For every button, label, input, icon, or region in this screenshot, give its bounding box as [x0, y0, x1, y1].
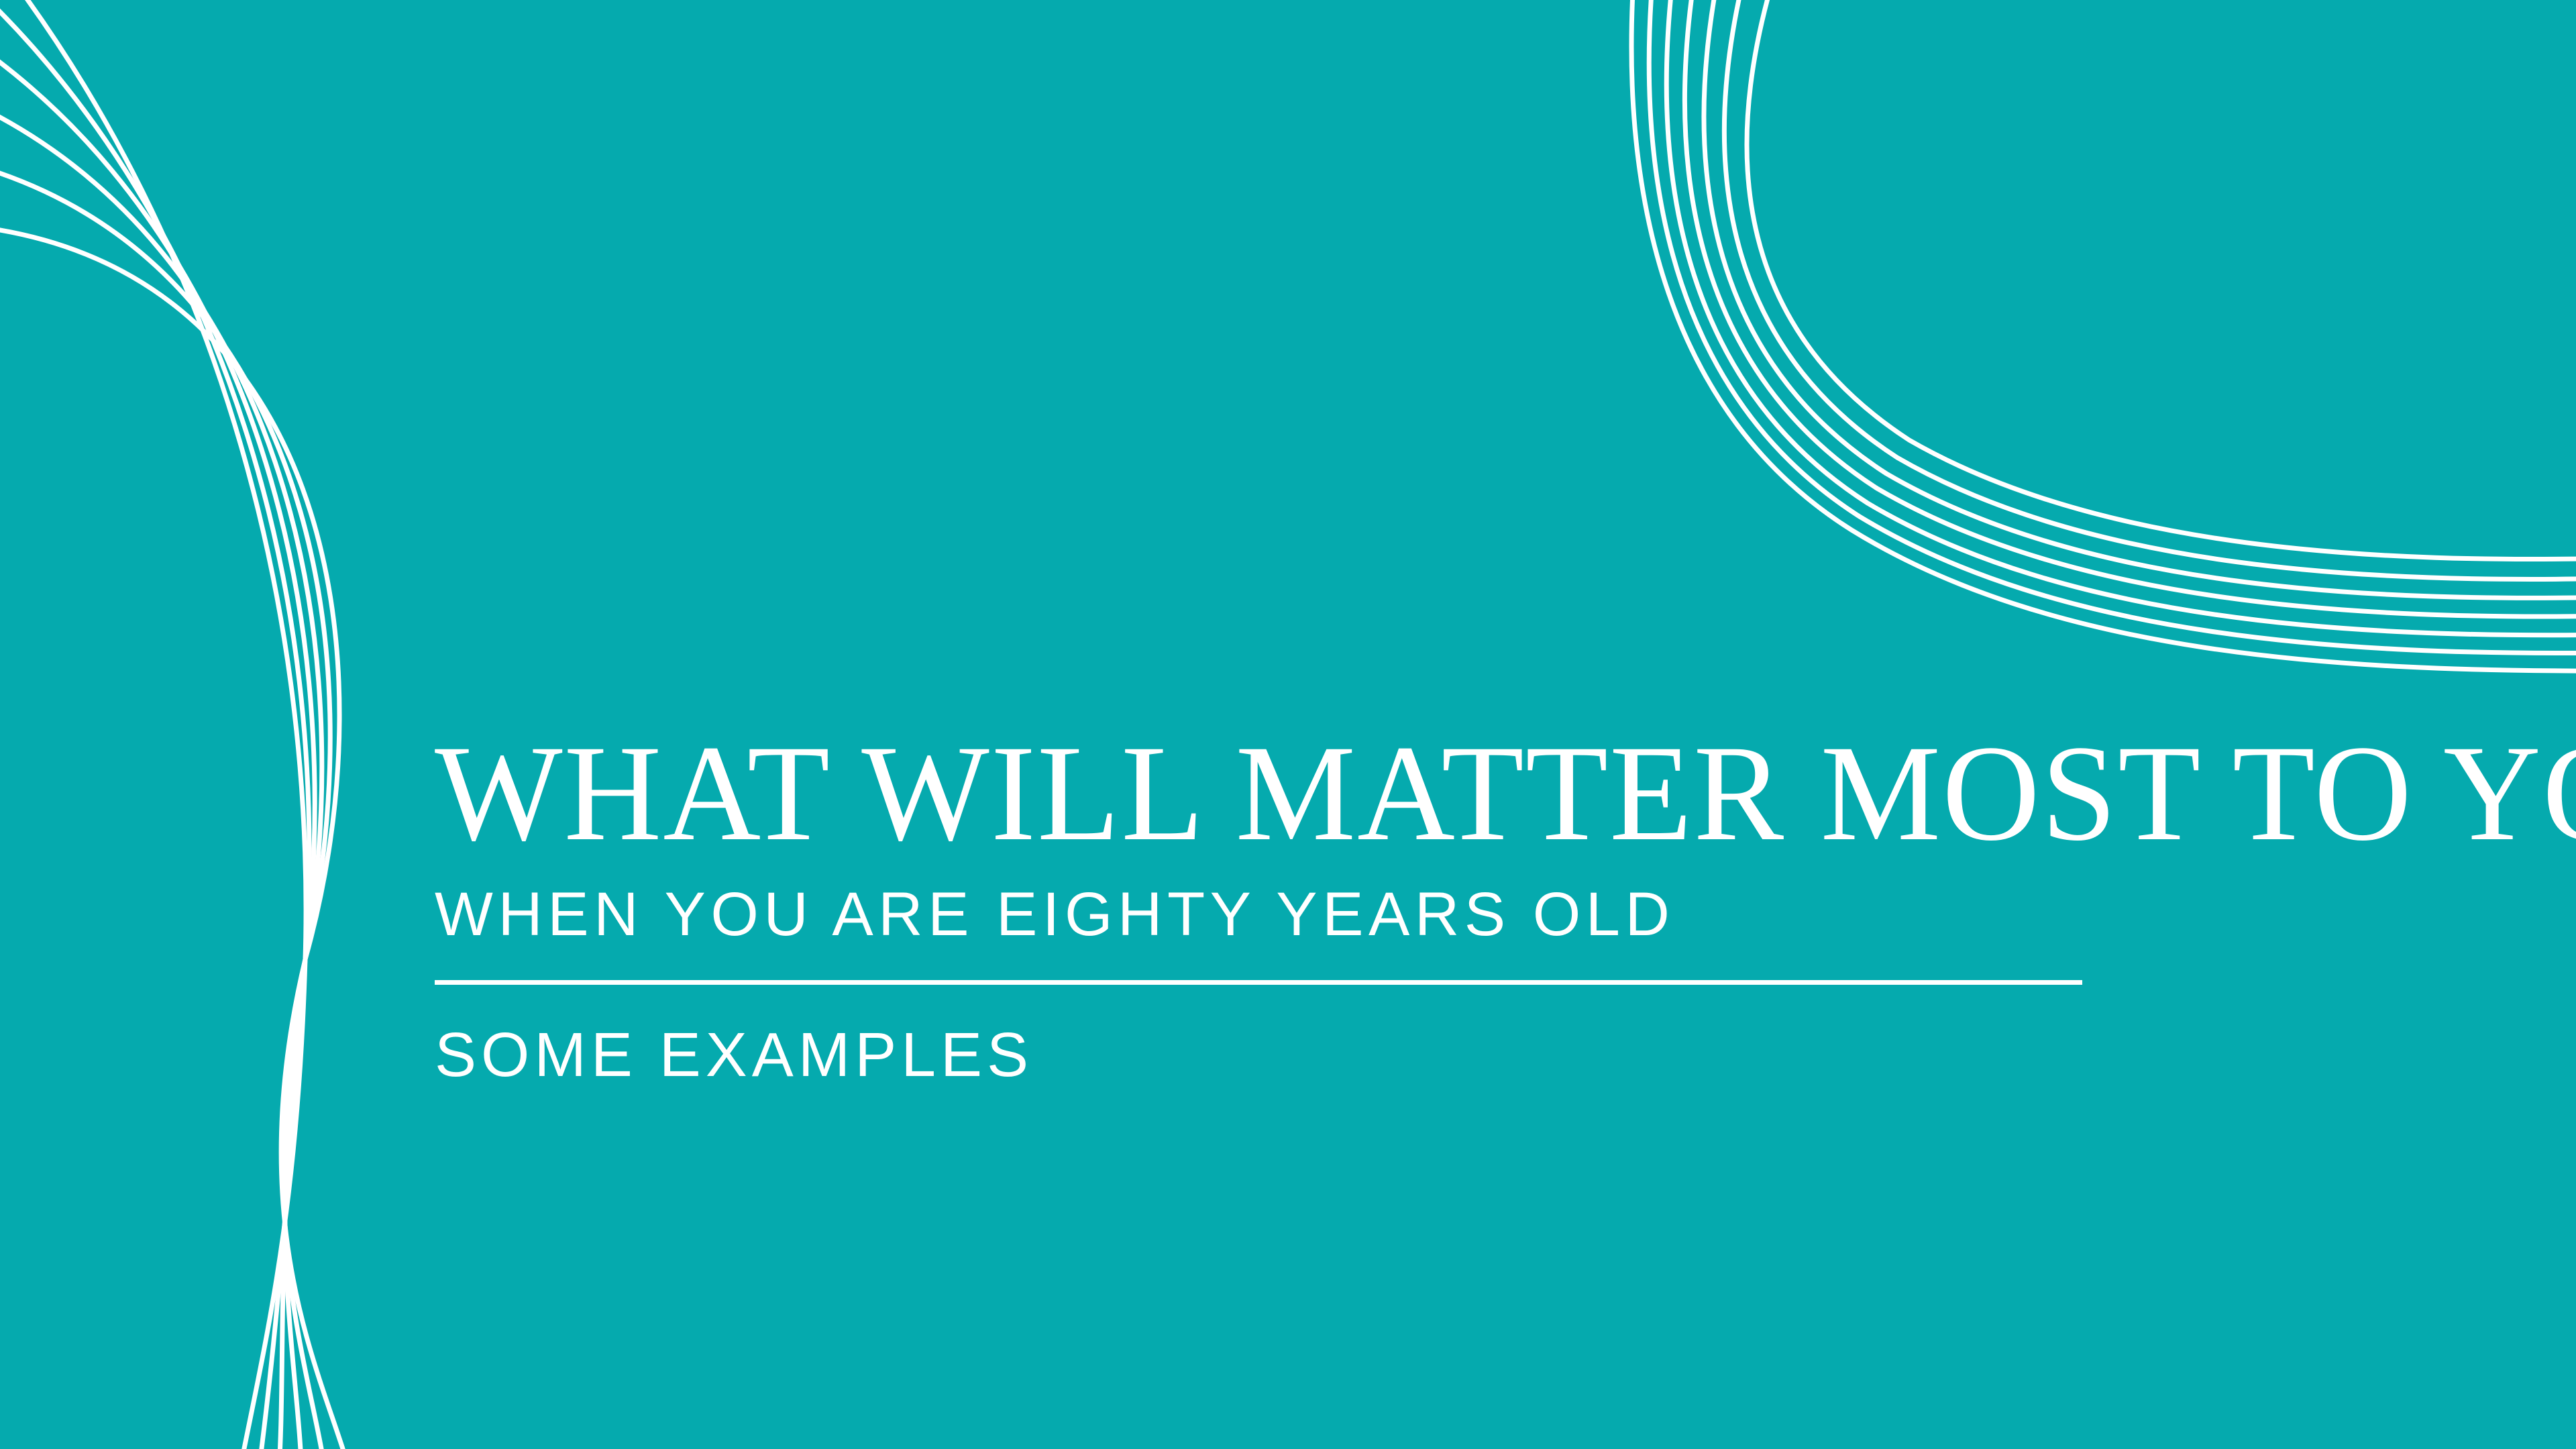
page-subtitle: WHEN YOU ARE EIGHTY YEARS OLD	[435, 862, 2179, 945]
divider-rule	[435, 980, 2082, 985]
deco-line	[0, 0, 309, 1449]
deco-line	[1631, 0, 2576, 671]
deco-line	[0, 0, 306, 1449]
page-title: WHAT WILL MATTER MOST TO YOU	[435, 724, 2153, 862]
deco-line	[1649, 0, 2576, 653]
deco-line	[0, 34, 315, 1449]
deco-line	[1704, 0, 2576, 598]
deco-line	[0, 161, 330, 1449]
deco-line	[1724, 0, 2576, 579]
deco-line	[0, 225, 354, 1449]
section-kicker: SOME EXAMPLES	[435, 985, 2179, 1086]
deco-line	[1747, 0, 2576, 559]
deco-line	[1666, 0, 2576, 635]
title-block: WHAT WILL MATTER MOST TO YOU WHEN YOU AR…	[435, 724, 2179, 1086]
slide-canvas: WHAT WILL MATTER MOST TO YOU WHEN YOU AR…	[0, 0, 2576, 1449]
deco-line	[0, 97, 322, 1449]
deco-line	[1684, 0, 2576, 616]
